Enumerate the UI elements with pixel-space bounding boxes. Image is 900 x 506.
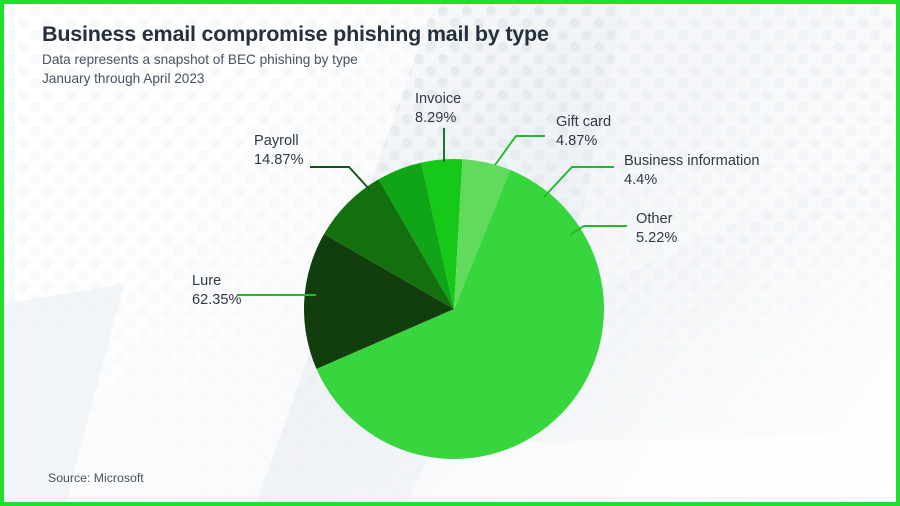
pie-label-gift-card-name: Gift card [556, 114, 611, 130]
pie-label-gift-card: Gift card 4.87% [556, 113, 611, 151]
leader-line-payroll [310, 167, 370, 190]
pie-label-payroll-value: 14.87% [254, 151, 304, 170]
leader-line-business-information [544, 167, 614, 197]
pie-label-gift-card-value: 4.87% [556, 132, 611, 151]
pie-label-other-value: 5.22% [636, 229, 677, 248]
pie-label-lure-value: 62.35% [192, 291, 242, 310]
pie-label-invoice-name: Invoice [415, 91, 461, 107]
chart-figure: Business email compromise phishing mail … [0, 0, 900, 506]
pie-label-other-name: Other [636, 211, 673, 227]
leader-line-gift-card [495, 136, 545, 165]
pie-label-payroll-name: Payroll [254, 133, 299, 149]
pie-chart [4, 4, 900, 506]
pie-label-business-information: Business information 4.4% [624, 152, 759, 190]
pie-label-payroll: Payroll 14.87% [254, 132, 304, 170]
pie-label-business-information-value: 4.4% [624, 171, 759, 190]
pie-label-business-information-name: Business information [624, 153, 759, 169]
pie-label-lure-name: Lure [192, 273, 221, 289]
pie-slices [304, 159, 604, 459]
pie-label-invoice: Invoice 8.29% [415, 90, 461, 128]
pie-label-lure: Lure 62.35% [192, 272, 242, 310]
source-note: Source: Microsoft [48, 471, 144, 485]
pie-label-invoice-value: 8.29% [415, 109, 461, 128]
pie-label-other: Other 5.22% [636, 210, 677, 248]
